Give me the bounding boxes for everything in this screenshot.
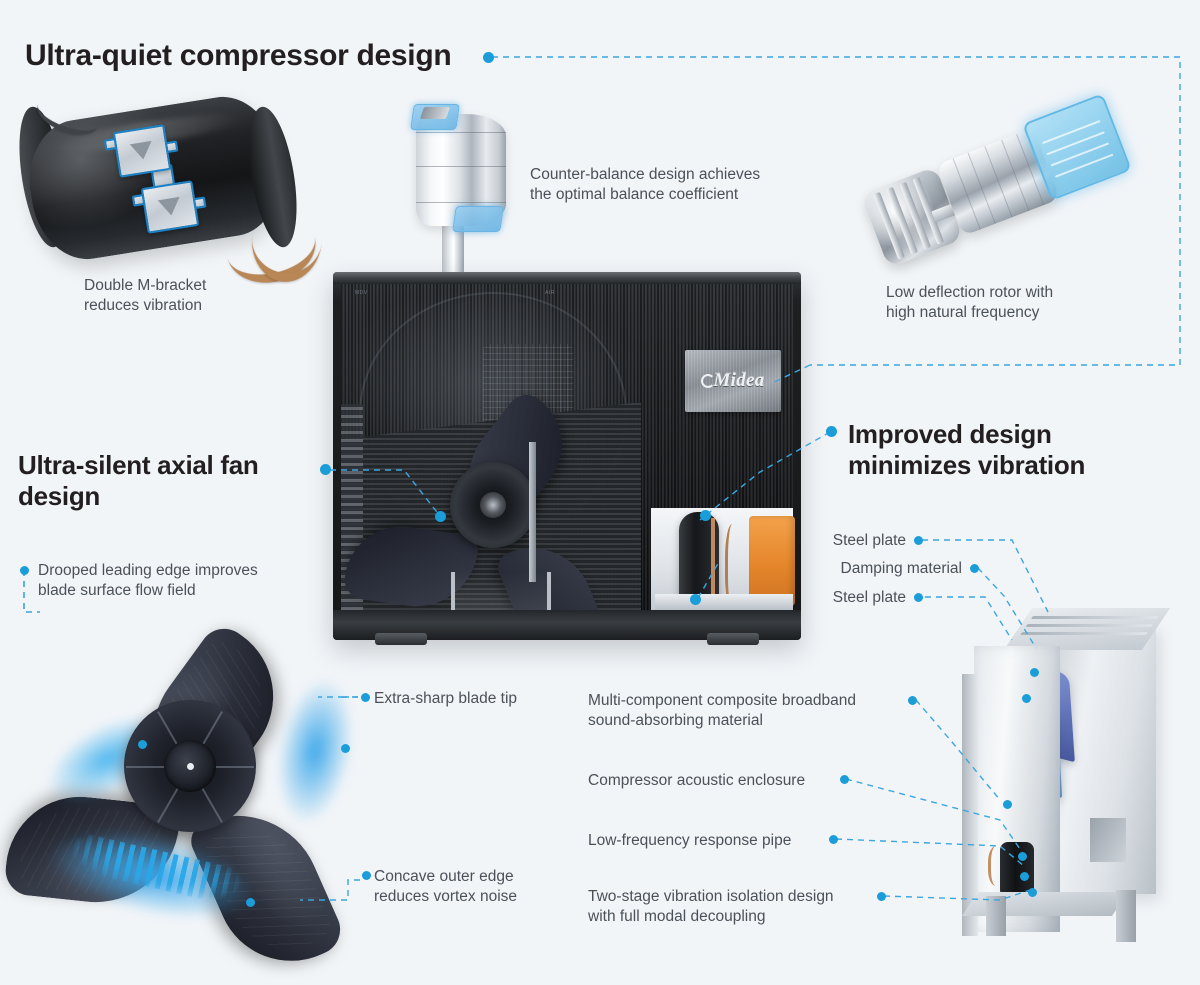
caption-line-2: reduces vortex noise — [374, 887, 554, 907]
low-deflection-rotor-photo — [858, 92, 1120, 264]
bracket-tab — [193, 196, 207, 209]
caption-line-2: the optimal balance coefficient — [530, 185, 810, 205]
caption-two-stage-vibration-isolation: Two-stage vibration isolation design wit… — [588, 887, 888, 928]
brand-plate: Midea — [685, 350, 781, 412]
hub-spoke — [157, 711, 191, 767]
rotor-lamination — [1050, 142, 1109, 166]
caption-line-2: sound-absorbing material — [588, 711, 918, 731]
unit-label-left: MDV — [355, 290, 368, 296]
callout-dot-icon — [908, 696, 917, 705]
fan-assembly — [20, 598, 360, 934]
hub-spoke — [189, 711, 223, 767]
heading-ultra-quiet-compressor: Ultra-quiet compressor design — [25, 38, 451, 73]
caption-line-2: blade surface flow field — [38, 581, 328, 601]
caption-sound-absorbing-material: Multi-component composite broadband soun… — [588, 691, 918, 732]
caption-low-deflection-rotor: Low deflection rotor with high natural f… — [886, 283, 1126, 324]
seam — [416, 166, 506, 167]
caption-counter-balance: Counter-balance design achieves the opti… — [530, 165, 810, 206]
blade-tip-glow — [266, 671, 365, 832]
hub-spoke — [157, 767, 191, 823]
rotor-lamination — [1046, 131, 1105, 155]
callout-dot-accumulator-icon — [700, 510, 711, 521]
callout-dot-icon — [483, 52, 494, 63]
callout-dot-steel-plate-icon — [1030, 668, 1039, 677]
unit-top-panel — [333, 272, 801, 284]
callout-dot-icon — [914, 593, 923, 602]
heading-line-1: Improved design — [848, 419, 1158, 450]
caption-line-1: Low deflection rotor with — [886, 283, 1126, 303]
callout-dot-compressor-icon — [690, 594, 701, 605]
callout-dot-icon — [826, 426, 837, 437]
cabinet-louvre — [1025, 624, 1153, 627]
caption-line-1: Drooped leading edge improves — [38, 561, 328, 581]
hub-spoke — [189, 767, 223, 823]
caption-line-1: Counter-balance design achieves — [530, 165, 810, 185]
unit-label-right: AIR — [545, 290, 555, 296]
callout-dot-enclosure-icon — [1018, 852, 1027, 861]
cabinet-cutout — [1090, 818, 1126, 862]
callout-dot-blade-leading-edge-icon — [138, 740, 147, 749]
cabinet-cutaway-photo — [940, 570, 1192, 938]
compressor-bracket-photo — [16, 92, 316, 274]
seam — [416, 132, 506, 133]
caption-line-2: with full modal decoupling — [588, 907, 888, 927]
bracket-wedge-icon — [158, 197, 182, 217]
caption-extra-sharp-blade-tip: Extra-sharp blade tip — [374, 689, 564, 709]
caption-steel-plate-top: Steel plate — [700, 531, 906, 551]
rotor-lamination — [1055, 154, 1114, 178]
caption-line-1: Concave outer edge — [374, 867, 554, 887]
bracket-tab — [132, 194, 146, 207]
callout-dot-icon — [361, 693, 370, 702]
caption-double-m-bracket: Double M-bracket reduces vibration — [84, 276, 314, 317]
counterweight-highlight-bottom — [452, 206, 504, 232]
heading-line-1: Ultra-silent axial fan — [18, 450, 318, 481]
outdoor-unit-photo: MDV AIR Mid — [333, 272, 801, 640]
fan-center-cap — [187, 763, 194, 770]
heading-line-2: design — [18, 481, 318, 512]
callout-dot-icon — [829, 835, 838, 844]
fan-support-post — [529, 442, 536, 582]
caption-drooped-leading-edge: Drooped leading edge improves blade surf… — [38, 561, 328, 602]
callout-dot-blade-outer-edge-icon — [246, 898, 255, 907]
counterweight-notch — [420, 107, 450, 119]
callout-dot-pipe-icon — [1020, 872, 1029, 881]
hub-spoke — [190, 766, 254, 768]
m-bracket-upper — [113, 124, 172, 178]
caption-line-1: Double M-bracket — [84, 276, 314, 296]
hub-spoke — [126, 766, 190, 768]
callout-dot-icon — [914, 536, 923, 545]
m-bracket-lower — [141, 180, 200, 234]
cabinet-leg — [1116, 890, 1136, 942]
seam — [416, 202, 506, 203]
heading-ultra-silent-axial-fan: Ultra-silent axial fan design — [18, 450, 318, 511]
bracket-tab — [165, 140, 179, 153]
callout-dot-icon — [320, 464, 331, 475]
midea-logo: Midea — [701, 370, 764, 392]
unit-housing: MDV AIR Mid — [333, 272, 801, 640]
caption-low-frequency-response-pipe: Low-frequency response pipe — [588, 831, 838, 851]
brand-name: Midea — [713, 370, 764, 392]
callout-dot-icon — [362, 871, 371, 880]
callout-dot-icon — [970, 564, 979, 573]
caption-damping-material: Damping material — [700, 559, 962, 579]
caption-concave-outer-edge: Concave outer edge reduces vortex noise — [374, 867, 554, 908]
diagram-canvas: MDV AIR Mid — [0, 0, 1200, 948]
callout-dot-icon — [840, 775, 849, 784]
cabinet-louvre — [1020, 632, 1148, 635]
unit-foot — [707, 633, 759, 645]
fan-hub — [450, 462, 536, 548]
callout-dot-blade-tip-icon — [341, 744, 350, 753]
heading-improved-design-vibration: Improved design minimizes vibration — [848, 419, 1158, 480]
caption-compressor-acoustic-enclosure: Compressor acoustic enclosure — [588, 771, 848, 791]
caption-steel-plate-bottom: Steel plate — [700, 588, 906, 608]
cabinet-leg — [986, 896, 1006, 936]
rotor-lamination — [1042, 120, 1101, 144]
caption-line-2: high natural frequency — [886, 303, 1126, 323]
unit-foot — [375, 633, 427, 645]
cabinet-top-panel — [1004, 608, 1170, 650]
rotor-rib — [953, 158, 981, 229]
caption-line-2: reduces vibration — [84, 296, 314, 316]
bracket-wedge-icon — [130, 141, 154, 161]
heading-line-2: minimizes vibration — [848, 450, 1158, 481]
callout-dot-damping-icon — [1022, 694, 1031, 703]
axial-fan-photo — [20, 598, 360, 934]
bracket-tab — [104, 138, 118, 151]
callout-dot-fan-blade-icon — [435, 511, 446, 522]
cabinet-louvre — [1031, 616, 1159, 619]
counter-balance-crankshaft-photo — [398, 92, 508, 274]
callout-dot-foam-icon — [1003, 800, 1012, 809]
caption-line-1: Multi-component composite broadband — [588, 691, 918, 711]
callout-dot-icon — [877, 892, 886, 901]
caption-line-1: Two-stage vibration isolation design — [588, 887, 888, 907]
callout-dot-isolation-icon — [1028, 888, 1037, 897]
callout-dot-icon — [20, 566, 29, 575]
